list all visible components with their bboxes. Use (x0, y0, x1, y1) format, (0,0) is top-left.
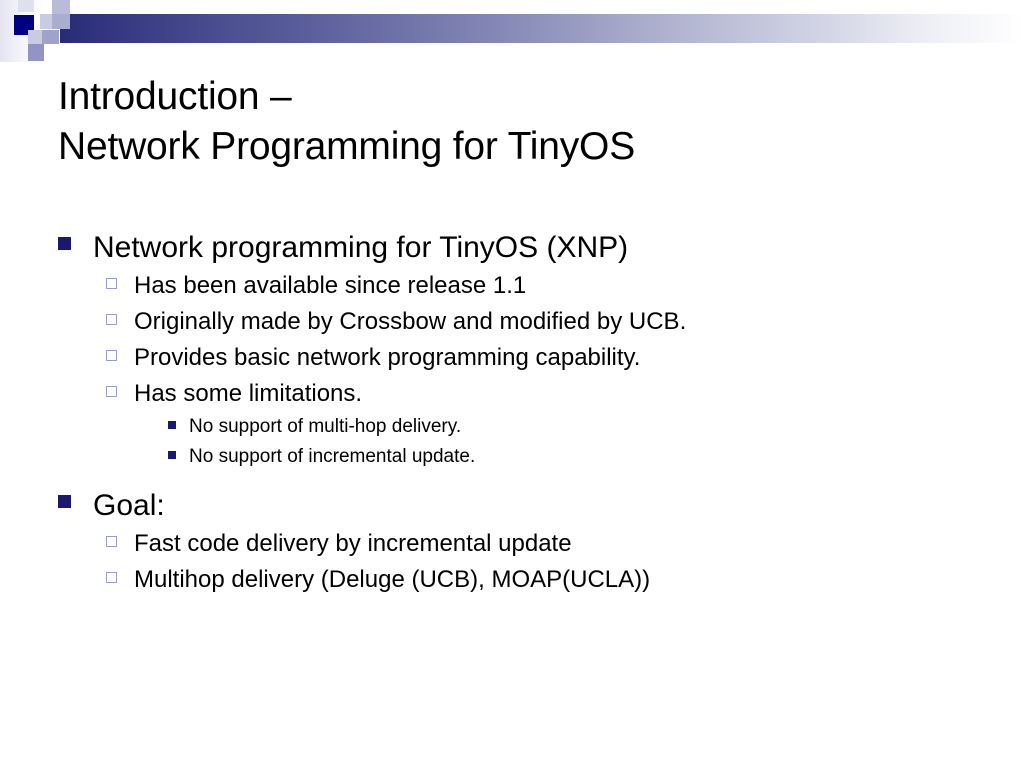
filled-square-small-navy-icon (168, 443, 178, 467)
bullet-text: Has been available since release 1.1 (134, 269, 526, 302)
filled-square-navy-icon (58, 486, 73, 516)
hollow-square-lavender-icon (106, 527, 120, 555)
bullet-item-level-2: Has some limitations. (106, 377, 998, 410)
bullet-item-level-2: Multihop delivery (Deluge (UCB), MOAP(UC… (106, 563, 998, 596)
hollow-square-lavender-icon (106, 269, 120, 297)
square-bottom (28, 44, 44, 61)
slide-title: Introduction – Network Programming for T… (58, 72, 958, 171)
bullet-glyph (106, 572, 117, 583)
square-mid-right (52, 14, 70, 29)
header-gradient-bar (60, 14, 1024, 43)
filled-square-small-navy-icon (168, 413, 178, 437)
bullet-text: Originally made by Crossbow and modified… (134, 305, 686, 338)
bullet-text: Network programming for TinyOS (XNP) (93, 228, 628, 267)
hollow-square-lavender-icon (106, 563, 120, 591)
hollow-square-lavender-icon (106, 377, 120, 405)
bullet-text: Fast code delivery by incremental update (134, 527, 572, 560)
slide-title-line-2: Network Programming for TinyOS (58, 122, 958, 172)
bullet-glyph (58, 495, 71, 508)
bullet-text: No support of incremental update. (189, 443, 475, 470)
bullet-item-level-1: Network programming for TinyOS (XNP) (58, 228, 998, 267)
bullet-text: No support of multi-hop delivery. (189, 413, 461, 440)
header-decoration (0, 0, 1024, 72)
square-light-top (52, 0, 70, 14)
bullet-glyph (168, 451, 176, 459)
bullet-item-level-2: Fast code delivery by incremental update (106, 527, 998, 560)
slide-title-line-1: Introduction – (58, 72, 958, 122)
bullet-glyph (168, 421, 176, 429)
square-pale-top (18, 0, 34, 12)
bullet-glyph (106, 314, 117, 325)
bullet-text: Goal: (93, 486, 165, 525)
bullet-glyph (106, 350, 117, 361)
bullet-text: Has some limitations. (134, 377, 362, 410)
bullet-glyph (106, 536, 117, 547)
bullet-item-level-2: Originally made by Crossbow and modified… (106, 305, 998, 338)
bullet-text: Provides basic network programming capab… (134, 341, 640, 374)
slide-body-bullet-list: Network programming for TinyOS (XNP)Has … (58, 228, 998, 599)
hollow-square-lavender-icon (106, 305, 120, 333)
bullet-text: Multihop delivery (Deluge (UCB), MOAP(UC… (134, 563, 650, 596)
hollow-square-lavender-icon (106, 341, 120, 369)
presentation-slide: Introduction – Network Programming for T… (0, 0, 1024, 768)
filled-square-navy-icon (58, 228, 73, 258)
bullet-glyph (58, 237, 71, 250)
square-mid-lower-two (42, 30, 59, 44)
bullet-item-level-1: Goal: (58, 486, 998, 525)
bullet-item-level-3: No support of multi-hop delivery. (168, 413, 998, 440)
bullet-item-level-2: Provides basic network programming capab… (106, 341, 998, 374)
bullet-item-level-2: Has been available since release 1.1 (106, 269, 998, 302)
bullet-glyph (106, 278, 117, 289)
bullet-item-level-3: No support of incremental update. (168, 443, 998, 470)
bullet-glyph (106, 386, 117, 397)
